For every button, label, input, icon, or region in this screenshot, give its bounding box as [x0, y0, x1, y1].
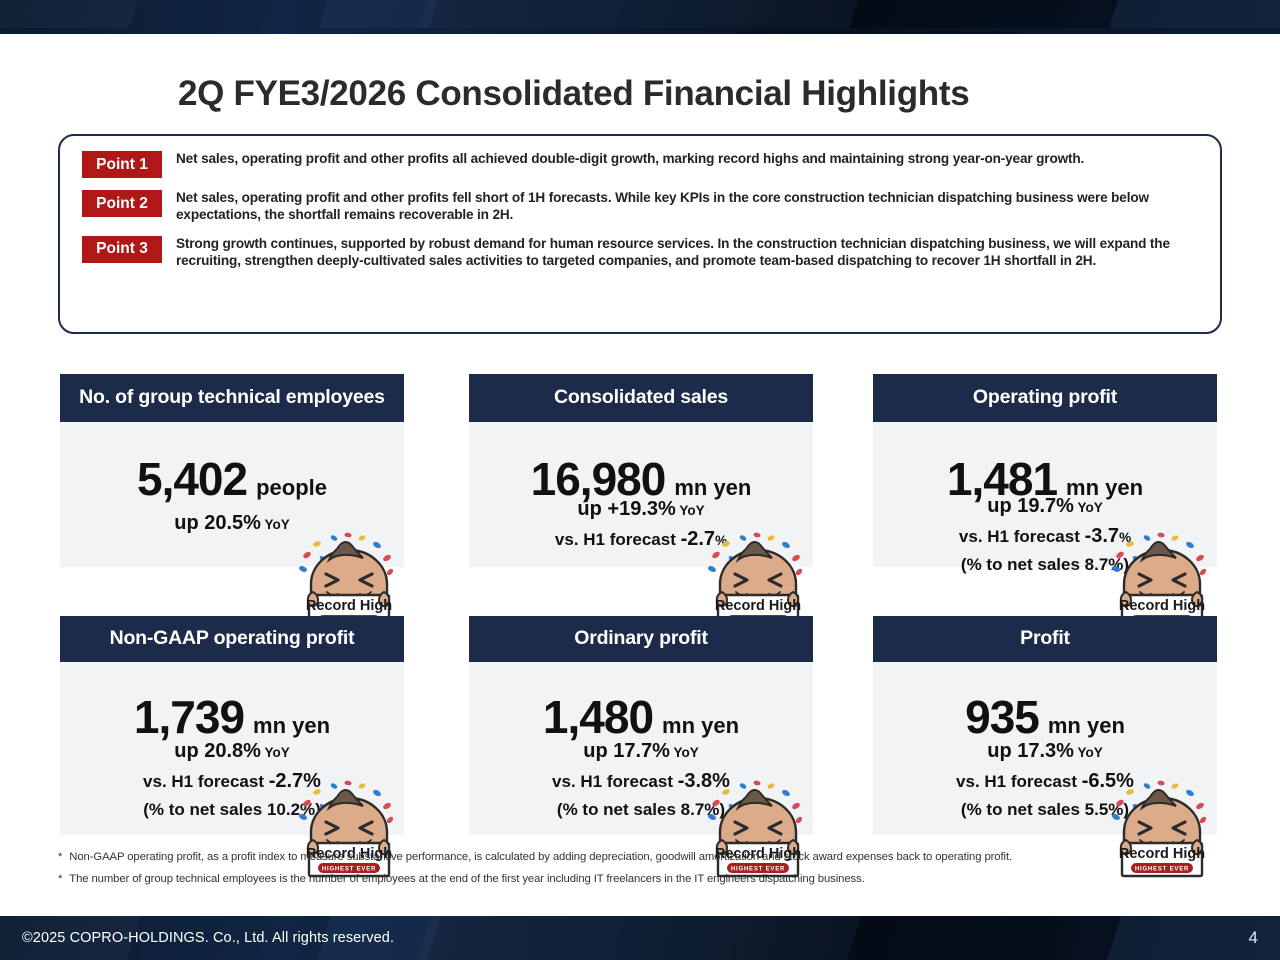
- kpi-subline-lead: (% to net sales 10.2%): [143, 800, 321, 819]
- point-text-3: Strong growth continues, supported by ro…: [176, 235, 1202, 270]
- kpi-sublines: up 19.7% YoYvs. H1 forecast -3.7%(% to n…: [873, 495, 1217, 575]
- kpi-card-title: Profit: [873, 616, 1217, 662]
- kpi-sublines: up 20.5% YoY: [60, 512, 404, 535]
- band-facet: [849, 0, 1131, 28]
- point-badge-2: Point 2: [82, 190, 162, 217]
- band-facet: [0, 0, 151, 28]
- kpi-subline-lead: vs. H1 forecast: [555, 530, 681, 549]
- kpi-unit: mn yen: [253, 713, 330, 739]
- confetti: [298, 532, 394, 580]
- footnote-asterisk: *: [58, 873, 62, 885]
- kpi-subline-tail: YoY: [261, 745, 290, 760]
- kpi-subline: (% to net sales 10.2%): [60, 800, 404, 820]
- kpi-subline-value: 19.7%: [1017, 495, 1074, 517]
- kpi-subline-lead: vs. H1 forecast: [143, 772, 269, 791]
- kpi-subline-tail: YoY: [676, 503, 705, 518]
- kpi-subline: up 19.7% YoY: [873, 495, 1217, 518]
- kpi-card-title: Non-GAAP operating profit: [60, 616, 404, 662]
- kpi-subline: up 20.5% YoY: [60, 512, 404, 535]
- kpi-subline: vs. H1 forecast -2.7%: [469, 528, 813, 551]
- kpi-subline-tail: YoY: [670, 745, 699, 760]
- kpi-subline-tail: %: [1119, 530, 1131, 545]
- record-high-sign-text: Record High: [306, 598, 392, 614]
- kpi-subline-value: 20.8%: [204, 740, 261, 762]
- kpi-value: 935: [965, 690, 1039, 744]
- kpi-value: 1,480: [543, 690, 653, 744]
- footnotes: *Non-GAAP operating profit, as a profit …: [58, 851, 1238, 895]
- kpi-subline: up +19.3% YoY: [469, 498, 813, 521]
- kpi-value: 5,402: [137, 452, 247, 506]
- kpi-subline: (% to net sales 8.7%): [873, 555, 1217, 575]
- point-row-2: Point 2Net sales, operating profit and o…: [82, 189, 1202, 224]
- kpi-card-body: 1,739 mn yen up 20.8% YoYvs. H1 forecast…: [60, 662, 404, 835]
- kpi-card-6: Profit 935 mn yen up 17.3% YoYvs. H1 for…: [873, 616, 1217, 835]
- kpi-subline-lead: vs. H1 forecast: [959, 527, 1085, 546]
- band-facet: [416, 916, 875, 960]
- kpi-subline-tail: YoY: [1074, 745, 1103, 760]
- kpi-value-line: 1,481 mn yen: [873, 422, 1217, 506]
- kpi-sublines: up 20.8% YoYvs. H1 forecast -2.7%(% to n…: [60, 740, 404, 820]
- band-facet: [419, 0, 871, 28]
- kpi-subline-tail: %: [715, 533, 727, 548]
- top-decorative-band: [0, 0, 1280, 34]
- kpi-subline-lead: vs. H1 forecast: [552, 772, 678, 791]
- key-points-box: Point 1Net sales, operating profit and o…: [58, 134, 1222, 334]
- kpi-subline: vs. H1 forecast -3.7%: [873, 525, 1217, 548]
- kpi-value-line: 935 mn yen: [873, 662, 1217, 744]
- kpi-card-title: Operating profit: [873, 374, 1217, 422]
- kpi-subline-lead: (% to net sales 8.7%): [961, 555, 1129, 574]
- point-row-1: Point 1Net sales, operating profit and o…: [82, 150, 1202, 178]
- kpi-subline-value: -3.8%: [678, 770, 730, 792]
- point-row-3: Point 3Strong growth continues, supporte…: [82, 235, 1202, 270]
- point-text-1: Net sales, operating profit and other pr…: [176, 150, 1084, 167]
- kpi-card-body: 935 mn yen up 17.3% YoYvs. H1 forecast -…: [873, 662, 1217, 835]
- kpi-subline-lead: up: [987, 740, 1017, 762]
- kpi-subline: up 20.8% YoY: [60, 740, 404, 763]
- kpi-sublines: up 17.3% YoYvs. H1 forecast -6.5%(% to n…: [873, 740, 1217, 820]
- kpi-subline-value: -2.7: [681, 528, 715, 550]
- footnote-1: *Non-GAAP operating profit, as a profit …: [58, 851, 1238, 863]
- kpi-value-line: 1,739 mn yen: [60, 662, 404, 744]
- kpi-card-title: Consolidated sales: [469, 374, 813, 422]
- kpi-value-line: 1,480 mn yen: [469, 662, 813, 744]
- kpi-subline-lead: up: [987, 495, 1017, 517]
- footnote-2: *The number of group technical employees…: [58, 873, 1238, 885]
- kpi-card-title: No. of group technical employees: [60, 374, 404, 422]
- kpi-subline: vs. H1 forecast -6.5%: [873, 770, 1217, 793]
- kpi-card-1: No. of group technical employees 5,402 p…: [60, 374, 404, 567]
- kpi-subline-lead: (% to net sales 8.7%): [557, 800, 725, 819]
- footnote-asterisk: *: [58, 851, 62, 863]
- kpi-subline-value: -2.7%: [269, 770, 321, 792]
- kpi-card-2: Consolidated sales 16,980 mn yen up +19.…: [469, 374, 813, 567]
- kpi-subline-tail: YoY: [261, 517, 290, 532]
- kpi-subline-lead: up: [577, 498, 607, 520]
- kpi-subline: vs. H1 forecast -3.8%: [469, 770, 813, 793]
- point-badge-1: Point 1: [82, 151, 162, 178]
- kpi-subline: up 17.7% YoY: [469, 740, 813, 763]
- point-badge-3: Point 3: [82, 236, 162, 263]
- kpi-subline: up 17.3% YoY: [873, 740, 1217, 763]
- kpi-sublines: up 17.7% YoYvs. H1 forecast -3.8%(% to n…: [469, 740, 813, 820]
- band-facet: [1109, 0, 1280, 28]
- kpi-subline-lead: up: [174, 512, 204, 534]
- kpi-card-body: 1,481 mn yen up 19.7% YoYvs. H1 forecast…: [873, 422, 1217, 567]
- footnote-text: The number of group technical employees …: [69, 873, 864, 885]
- kpi-subline-lead: up: [174, 740, 204, 762]
- record-high-sign-text: Record High: [1119, 598, 1205, 614]
- kpi-subline-value: -3.7: [1085, 525, 1119, 547]
- kpi-subline-value: +19.3%: [607, 498, 675, 520]
- point-text-2: Net sales, operating profit and other pr…: [176, 189, 1202, 224]
- kpi-value: 1,739: [134, 690, 244, 744]
- kpi-subline-lead: (% to net sales 5.5%): [961, 800, 1129, 819]
- kpi-card-3: Operating profit 1,481 mn yen up 19.7% Y…: [873, 374, 1217, 567]
- kpi-subline-lead: up: [583, 740, 613, 762]
- kpi-subline-value: 17.3%: [1017, 740, 1074, 762]
- band-facet: [846, 916, 1135, 960]
- kpi-subline: vs. H1 forecast -2.7%: [60, 770, 404, 793]
- kpi-value-line: 5,402 people: [60, 422, 404, 506]
- footer-band: ©2025 COPRO-HOLDINGS. Co., Ltd. All righ…: [0, 916, 1280, 960]
- kpi-subline-value: 17.7%: [613, 740, 670, 762]
- kpi-subline-value: -6.5%: [1082, 770, 1134, 792]
- kpi-subline: (% to net sales 8.7%): [469, 800, 813, 820]
- kpi-card-5: Ordinary profit 1,480 mn yen up 17.7% Yo…: [469, 616, 813, 835]
- page-number: 4: [1249, 928, 1258, 948]
- kpi-card-title: Ordinary profit: [469, 616, 813, 662]
- kpi-unit: mn yen: [1048, 713, 1125, 739]
- kpi-unit: mn yen: [662, 713, 739, 739]
- kpi-card-body: 5,402 people up 20.5% YoY: [60, 422, 404, 567]
- kpi-card-body: 1,480 mn yen up 17.7% YoYvs. H1 forecast…: [469, 662, 813, 835]
- kpi-unit: people: [256, 475, 327, 501]
- record-high-badge: Record High HIGHEST EVER: [293, 522, 401, 630]
- kpi-value-line: 16,980 mn yen: [469, 422, 813, 506]
- kpi-subline-lead: vs. H1 forecast: [956, 772, 1082, 791]
- footnote-text: Non-GAAP operating profit, as a profit i…: [69, 851, 1012, 863]
- kpi-card-body: 16,980 mn yen up +19.3% YoYvs. H1 foreca…: [469, 422, 813, 567]
- page-title: 2Q FYE3/2026 Consolidated Financial High…: [178, 74, 969, 114]
- kpi-subline-tail: YoY: [1074, 500, 1103, 515]
- copyright-text: ©2025 COPRO-HOLDINGS. Co., Ltd. All righ…: [22, 930, 394, 946]
- kpi-card-4: Non-GAAP operating profit 1,739 mn yen u…: [60, 616, 404, 835]
- kpi-sublines: up +19.3% YoYvs. H1 forecast -2.7%: [469, 498, 813, 551]
- kpi-subline-value: 20.5%: [204, 512, 261, 534]
- kpi-subline: (% to net sales 5.5%): [873, 800, 1217, 820]
- record-high-sign-text: Record High: [715, 598, 801, 614]
- record-high-badge-art: Record High HIGHEST EVER: [293, 522, 401, 630]
